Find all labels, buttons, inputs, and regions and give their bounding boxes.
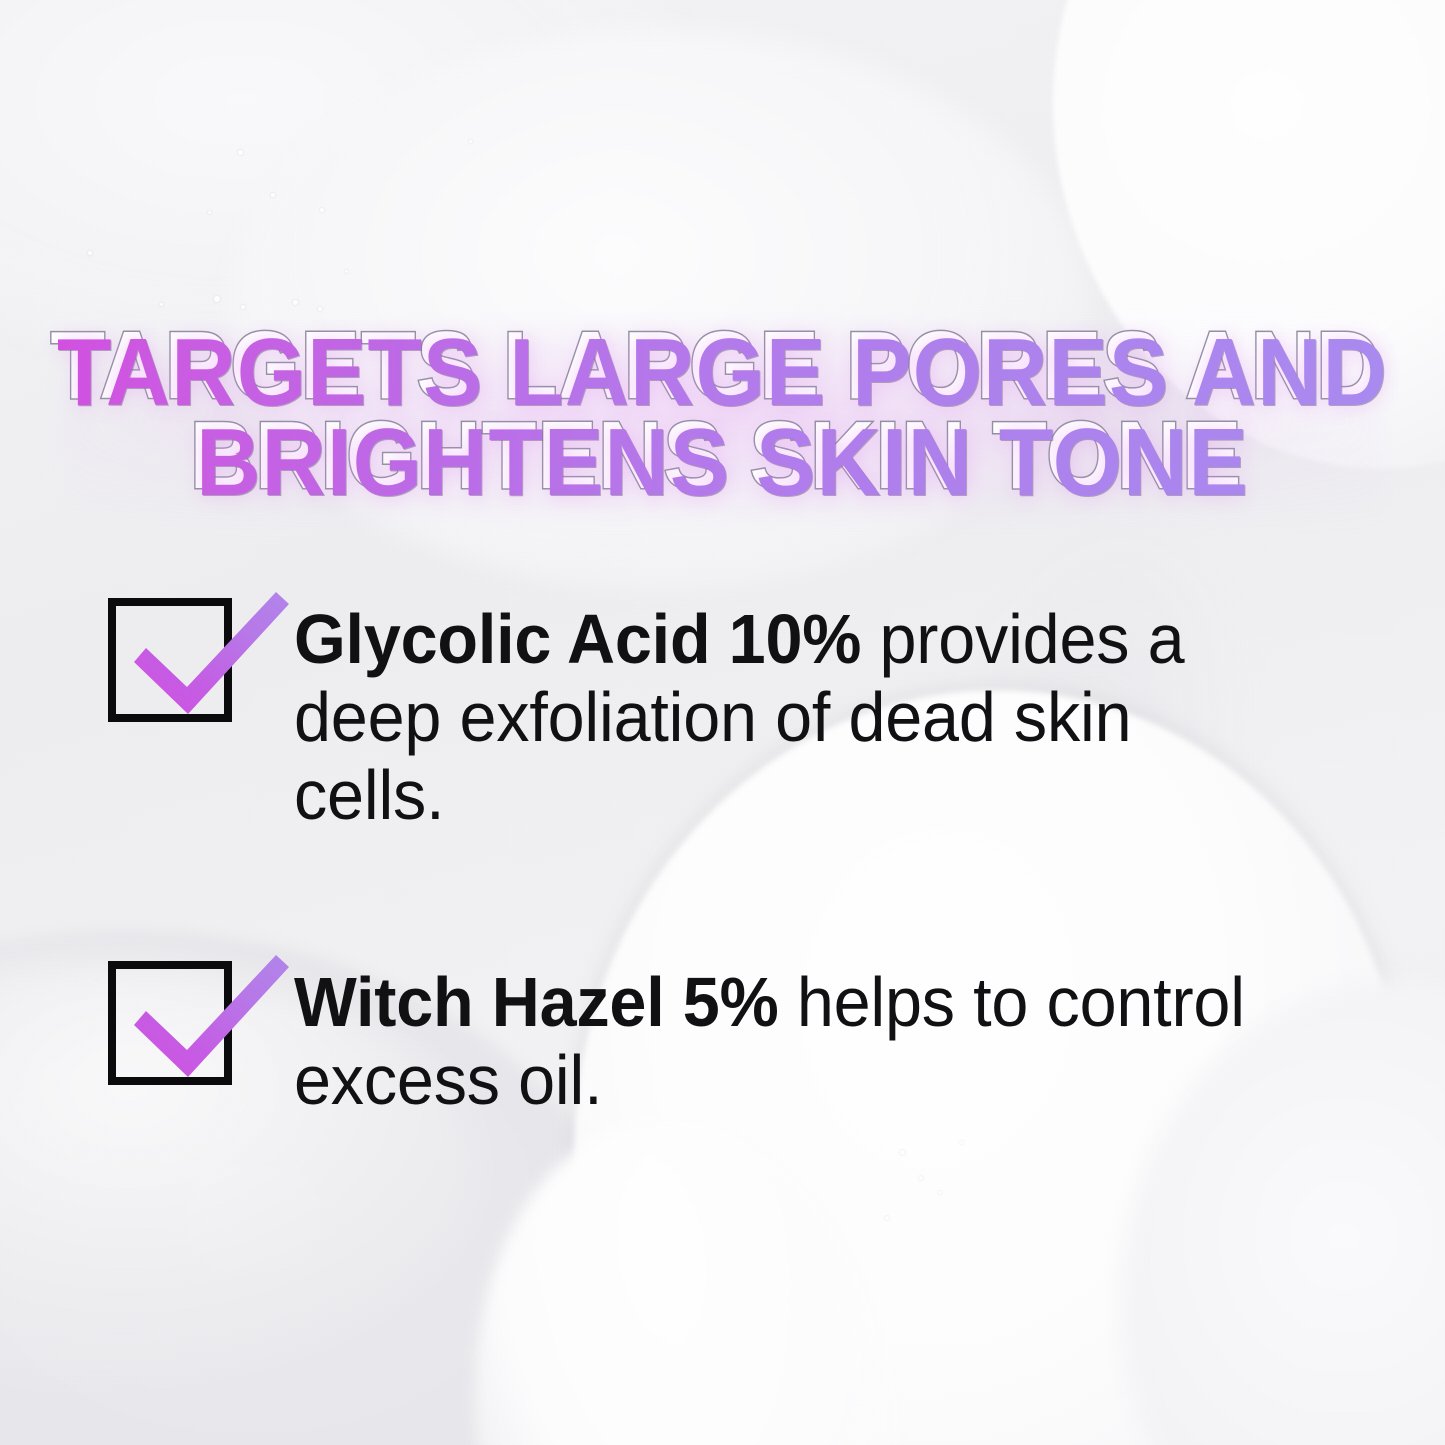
product-benefits-infographic: TARGETS LARGE PORES AND TARGETS LARGE PO… (0, 0, 1445, 1445)
content-layer: TARGETS LARGE PORES AND TARGETS LARGE PO… (0, 0, 1445, 1445)
benefit-text-glycolic-acid: Glycolic Acid 10% provides a deep exfoli… (294, 592, 1206, 834)
checkmark-icon (130, 590, 295, 735)
headline: TARGETS LARGE PORES AND TARGETS LARGE PO… (0, 330, 1445, 506)
benefit-item-glycolic-acid: Glycolic Acid 10% provides a deep exfoli… (108, 592, 1254, 834)
headline-line-2-fill: BRIGHTENS SKIN TONE (51, 420, 1395, 506)
checkbox-checked-icon[interactable] (108, 955, 294, 1125)
checkbox-checked-icon[interactable] (108, 592, 294, 762)
benefit-bold-witch-hazel: Witch Hazel 5% (294, 963, 779, 1041)
benefit-bold-glycolic-acid: Glycolic Acid 10% (294, 600, 861, 678)
benefit-text-witch-hazel: Witch Hazel 5% helps to control excess o… (294, 955, 1301, 1119)
checkmark-icon (130, 953, 295, 1098)
headline-line-2: BRIGHTENS SKIN TONE BRIGHTENS SKIN TONE (51, 420, 1395, 506)
benefit-item-witch-hazel: Witch Hazel 5% helps to control excess o… (108, 955, 1354, 1125)
